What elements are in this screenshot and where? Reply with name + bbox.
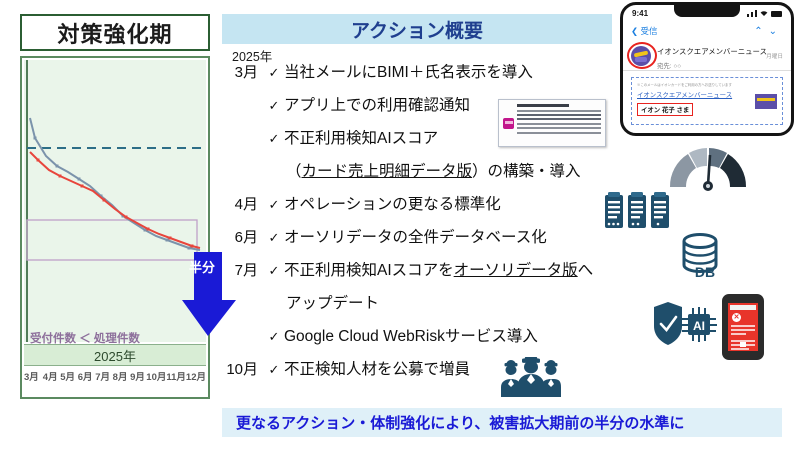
action-month: 3月	[222, 62, 264, 84]
action-text: 不正利用検知AIスコア	[284, 128, 438, 150]
chart-frame: 受付件数 ＜ 処理件数 2025年 3月 4月 5月 6月 7月 8月 9月 1…	[20, 56, 210, 399]
shield-check-ai-icon: AI	[652, 300, 718, 348]
list-item: 10月 ✓ 不正検知人材を公募で増員	[222, 359, 662, 392]
action-text: 当社メールにBIMI＋氏名表示を導入	[284, 62, 533, 84]
gauge-icon	[666, 141, 750, 191]
action-text-underlined: 不正利用検知AIスコアをオーソリデータ版へ	[284, 260, 593, 282]
action-summary-header: アクション概要	[222, 14, 612, 44]
notification-title-line	[517, 104, 569, 107]
footer-text: 更なるアクション・体制強化により、被害拡大期前の半分の水準に	[236, 412, 684, 433]
credit-card-icon	[503, 118, 514, 129]
half-arrow-label: 半分	[182, 260, 222, 275]
action-month: 10月	[222, 359, 264, 381]
action-underline: カード売上明細データ版	[302, 163, 473, 180]
list-item: アップデート	[222, 293, 662, 326]
warning-phone-icon: ✕	[722, 294, 764, 360]
phone-status-bar: 9:41	[623, 5, 791, 22]
action-summary-title: アクション概要	[351, 16, 483, 43]
database-icon: DB	[676, 232, 724, 278]
mail-disclaimer: ※このメールはイオンカードをご利用の方へお送りしています	[637, 82, 777, 87]
chart-tick: 10月	[146, 369, 166, 383]
notification-line	[517, 132, 601, 134]
signal-icon	[747, 10, 782, 17]
recipient-name-highlight: イオン 花子 さま	[637, 103, 693, 116]
card-thumbnail-icon	[755, 94, 777, 109]
warning-screen: ✕	[728, 303, 758, 351]
list-item: 7月 ✓ 不正利用検知AIスコアをオーソリデータ版へ	[222, 260, 662, 293]
chart-tick: 11月	[166, 369, 186, 383]
chart-axis-band: 2025年	[24, 344, 206, 366]
back-to-inbox-link[interactable]: ❮ 受信	[631, 25, 657, 37]
chart-tick: 8月	[111, 369, 128, 383]
action-text: オーソリデータの全件データベース化	[284, 227, 547, 249]
notification-line	[517, 118, 601, 120]
chart-panel: 対策強化期	[14, 14, 217, 399]
chart-plot-area: 受付件数 ＜ 処理件数	[24, 60, 206, 342]
clipboard-icon	[604, 191, 624, 231]
check-icon: ✓	[264, 194, 284, 216]
action-month: 6月	[222, 227, 264, 249]
chart-series-gray	[30, 118, 200, 250]
status-time: 9:41	[632, 9, 648, 18]
chart-axis-year-label: 2025年	[94, 346, 136, 365]
police-officers-icon	[500, 357, 562, 397]
push-notification-card	[498, 99, 606, 147]
list-item: 4月 ✓ オペレーションの更なる標準化	[222, 194, 662, 227]
notification-line	[517, 110, 601, 112]
avatar-highlight-circle	[627, 42, 657, 69]
check-icon: ✓	[264, 128, 284, 150]
dismiss-button[interactable]	[740, 342, 746, 347]
chart-tick: 7月	[94, 369, 111, 383]
ai-chip-label: AI	[693, 319, 705, 333]
chart-series-red-markers	[37, 159, 194, 248]
action-text-underlined: （カード売上明細データ版）の構築・導入	[284, 161, 581, 183]
clipboard-icon	[650, 191, 670, 231]
clipboard-icon-group	[604, 191, 672, 231]
chevron-up-down-icons[interactable]: ⌃⌄	[754, 26, 783, 37]
check-icon: ✓	[264, 95, 284, 117]
chart-tick: 6月	[76, 369, 93, 383]
browser-url-bar	[730, 305, 756, 310]
check-icon: ✓	[264, 326, 284, 348]
action-month: 7月	[222, 260, 264, 282]
check-icon: ✓	[264, 359, 284, 381]
action-month: 4月	[222, 194, 264, 216]
close-icon: ✕	[732, 313, 741, 322]
chart-tick-row: 3月 4月 5月 6月 7月 8月 9月 10月 11月 12月	[24, 367, 206, 385]
chart-tick: 5月	[59, 369, 76, 383]
chart-tick: 4月	[41, 369, 58, 383]
chart-title-box: 対策強化期	[20, 14, 210, 51]
check-icon: ✓	[264, 62, 284, 84]
action-text: アップデート	[284, 293, 379, 315]
action-text: オペレーションの更なる標準化	[284, 194, 501, 216]
mail-date: 月曜日	[766, 52, 783, 60]
notification-line	[517, 114, 601, 116]
notification-line	[517, 127, 601, 129]
check-icon: ✓	[264, 227, 284, 249]
mail-recipient: 宛先: ○○	[657, 61, 760, 70]
clipboard-icon	[627, 191, 647, 231]
chart-lines	[24, 60, 206, 342]
database-label: DB	[695, 264, 715, 278]
chart-tick: 12月	[186, 369, 206, 383]
mail-nav-bar[interactable]: ❮ 受信 ⌃⌄	[623, 23, 791, 39]
mail-body: ※このメールはイオンカードをご利用の方へお送りしています イオンスクエアメンバー…	[631, 77, 783, 125]
check-icon: ✓	[264, 260, 284, 282]
list-item: ✓ Google Cloud WebRiskサービス導入	[222, 326, 662, 359]
notification-text-lines	[517, 104, 601, 143]
footer-banner: 更なるアクション・体制強化により、被害拡大期前の半分の水準に	[222, 408, 782, 437]
page-title: 対策強化期	[57, 17, 172, 49]
smartphone-mail-mockup: 9:41 ❮ 受信 ⌃⌄ イオンスクエアメンバーニュース 宛先: ○○ 月曜日 …	[620, 2, 794, 136]
mail-sender-name: イオンスクエアメンバーニュース	[657, 47, 767, 56]
action-underline: オーソリデータ版	[454, 262, 578, 279]
chart-tick: 9月	[129, 369, 146, 383]
action-text: 不正検知人材を公募で増員	[284, 359, 470, 381]
action-text: Google Cloud WebRiskサービス導入	[284, 326, 538, 348]
action-text: アプリ上での利用確認通知	[284, 95, 470, 117]
list-item: （カード売上明細データ版）の構築・導入	[222, 161, 662, 194]
list-item: 3月 ✓ 当社メールにBIMI＋氏名表示を導入	[222, 62, 662, 95]
list-item: 6月 ✓ オーソリデータの全件データベース化	[222, 227, 662, 260]
notification-line	[517, 123, 601, 125]
chart-series-gray-markers	[34, 137, 191, 250]
chart-threshold-band	[27, 220, 197, 260]
chart-tick: 3月	[24, 369, 41, 383]
